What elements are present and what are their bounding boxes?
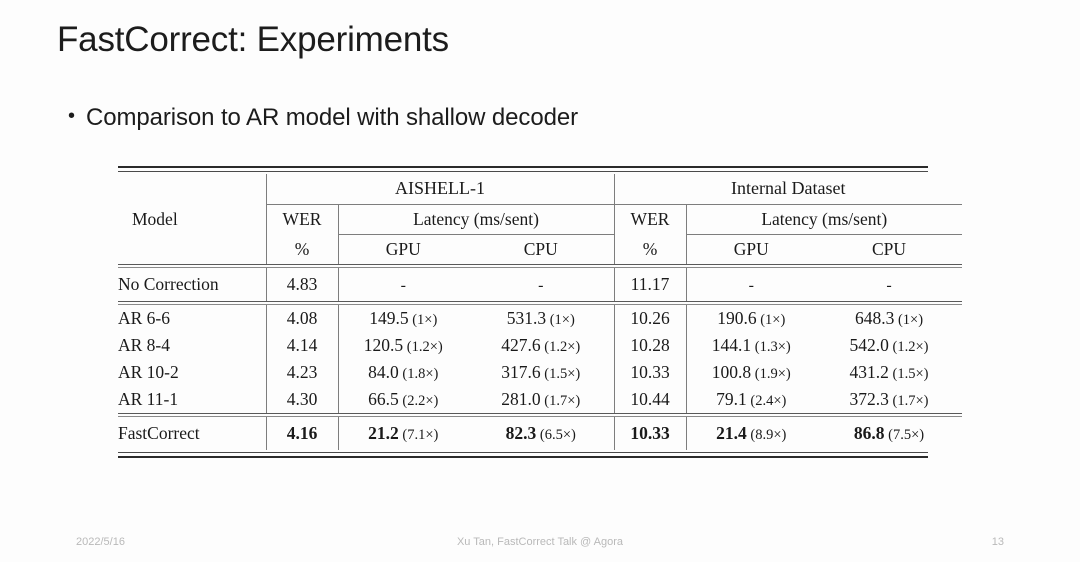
table-cell-aishell-cpu-speedup: (6.5×) [536, 427, 576, 443]
table-cell-internal-cpu: - [816, 268, 962, 301]
table-cell-internal-cpu: 542.0 (1.2×) [816, 332, 962, 359]
table-cell-aishell-wer-value: 4.08 [287, 308, 318, 328]
slide-footer: 2022/5/16 Xu Tan, FastCorrect Talk @ Ago… [0, 536, 1080, 556]
table-cell-aishell-gpu: 84.0 (1.8×) [338, 359, 468, 386]
table-cell-model: No Correction [118, 268, 266, 301]
table-cell-internal-cpu-speedup: (1.2×) [889, 339, 929, 355]
table-cell-internal-gpu-speedup: (2.4×) [747, 393, 787, 409]
table-cell-internal-cpu: 431.2 (1.5×) [816, 359, 962, 386]
column-header-internal-cpu: CPU [816, 235, 962, 265]
table-cell-model: AR 10-2 [118, 359, 266, 386]
table-cell-aishell-gpu: 21.2 (7.1×) [338, 417, 468, 450]
table-cell-internal-wer: 10.33 [614, 359, 686, 386]
table-cell-internal-cpu-value: - [886, 277, 891, 294]
table-cell-aishell-wer: 4.30 [266, 386, 338, 413]
table-cell-aishell-wer: 4.08 [266, 305, 338, 332]
table-cell-internal-gpu-speedup: (1×) [757, 312, 786, 328]
table-cell-model: AR 11-1 [118, 386, 266, 413]
table-cell-aishell-wer-value: 4.14 [287, 335, 318, 355]
table-cell-aishell-gpu-value: 21.2 [368, 423, 399, 443]
column-header-internal-gpu: GPU [686, 235, 816, 265]
page-title: FastCorrect: Experiments [57, 20, 449, 60]
footer-page-number: 13 [992, 536, 1004, 548]
table-cell-aishell-cpu: 82.3 (6.5×) [468, 417, 614, 450]
bullet-item-label: Comparison to AR model with shallow deco… [86, 104, 578, 132]
table-cell-internal-gpu-speedup: (1.3×) [751, 339, 791, 355]
table-cell-internal-cpu-value: 648.3 [855, 308, 894, 328]
table-cell-internal-gpu-value: 144.1 [712, 335, 751, 355]
table-cell-aishell-wer: 4.23 [266, 359, 338, 386]
table-cell-aishell-wer: 4.16 [266, 417, 338, 450]
table-cell-internal-gpu-value: 190.6 [717, 308, 756, 328]
table-cell-aishell-cpu-value: 531.3 [507, 308, 546, 328]
table-cell-internal-cpu-speedup: (1×) [894, 312, 923, 328]
table-cell-internal-wer: 10.44 [614, 386, 686, 413]
table-cell-aishell-wer-value: 4.30 [287, 389, 318, 409]
table-head: Model AISHELL-1 Internal Dataset WER Lat… [118, 174, 962, 264]
table-cell-aishell-gpu-value: 84.0 [368, 362, 399, 382]
table-cell-internal-cpu-value: 542.0 [850, 335, 889, 355]
table-cell-aishell-wer: 4.14 [266, 332, 338, 359]
table-cell-aishell-gpu-value: 149.5 [369, 308, 408, 328]
table-cell-aishell-cpu-speedup: (1.5×) [541, 366, 581, 382]
column-header-aishell-cpu: CPU [468, 235, 614, 265]
table-header-group-row: Model AISHELL-1 Internal Dataset [118, 174, 962, 205]
slide-canvas: FastCorrect: Experiments • Comparison to… [0, 0, 1080, 562]
table-cell-internal-gpu-speedup: (8.9×) [747, 427, 787, 443]
table-cell-aishell-cpu: 281.0 (1.7×) [468, 386, 614, 413]
bullet-marker-icon: • [68, 106, 75, 126]
table-cell-internal-cpu-speedup: (7.5×) [885, 427, 925, 443]
column-group-header-aishell: AISHELL-1 [266, 174, 614, 205]
table-cell-internal-cpu-value: 86.8 [854, 423, 885, 443]
table-cell-model: AR 6-6 [118, 305, 266, 332]
table-cell-aishell-cpu-speedup: (1.7×) [541, 393, 581, 409]
table-cell-internal-wer-value: 10.44 [630, 389, 669, 409]
table-cell-aishell-cpu-value: 82.3 [506, 423, 537, 443]
table-cell-internal-gpu: 144.1 (1.3×) [686, 332, 816, 359]
table-cell-model: FastCorrect [118, 417, 266, 450]
table-cell-internal-gpu-value: 79.1 [716, 389, 747, 409]
table-row: AR 10-24.2384.0 (1.8×)317.6 (1.5×)10.331… [118, 359, 962, 386]
table-cell-aishell-gpu: 66.5 (2.2×) [338, 386, 468, 413]
column-header-aishell-latency: Latency (ms/sent) [338, 205, 614, 235]
column-header-internal-latency: Latency (ms/sent) [686, 205, 962, 235]
table-cell-internal-cpu: 648.3 (1×) [816, 305, 962, 332]
table-bottom-rule [118, 452, 928, 458]
results-table-container: Model AISHELL-1 Internal Dataset WER Lat… [118, 166, 928, 458]
table-cell-aishell-cpu: 531.3 (1×) [468, 305, 614, 332]
table-cell-internal-cpu-speedup: (1.5×) [889, 366, 929, 382]
table-cell-aishell-gpu: 149.5 (1×) [338, 305, 468, 332]
column-header-aishell-wer: WER [266, 205, 338, 235]
table-cell-aishell-cpu-value: - [538, 277, 543, 294]
table-cell-aishell-gpu-value: 66.5 [368, 389, 399, 409]
table-cell-internal-gpu-value: 21.4 [716, 423, 747, 443]
table-cell-aishell-gpu-speedup: (1.8×) [399, 366, 439, 382]
table-cell-aishell-wer-value: 4.83 [287, 274, 318, 294]
column-header-model: Model [118, 174, 266, 264]
table-cell-internal-gpu: - [686, 268, 816, 301]
table-cell-internal-cpu-value: 372.3 [850, 389, 889, 409]
table-cell-aishell-gpu: 120.5 (1.2×) [338, 332, 468, 359]
table-row: No Correction4.83--11.17-- [118, 268, 962, 301]
table-cell-aishell-wer-value: 4.16 [287, 423, 318, 443]
table-row: AR 11-14.3066.5 (2.2×)281.0 (1.7×)10.447… [118, 386, 962, 413]
column-header-internal-wer: WER [614, 205, 686, 235]
table-cell-aishell-cpu: - [468, 268, 614, 301]
table-cell-aishell-cpu: 317.6 (1.5×) [468, 359, 614, 386]
table-cell-internal-gpu-value: 100.8 [712, 362, 751, 382]
results-table: Model AISHELL-1 Internal Dataset WER Lat… [118, 174, 962, 450]
table-cell-aishell-gpu-value: 120.5 [364, 335, 403, 355]
table-cell-internal-cpu: 372.3 (1.7×) [816, 386, 962, 413]
table-cell-internal-wer: 11.17 [614, 268, 686, 301]
table-cell-aishell-wer-value: 4.23 [287, 362, 318, 382]
table-cell-internal-cpu-speedup: (1.7×) [889, 393, 929, 409]
table-cell-internal-gpu: 79.1 (2.4×) [686, 386, 816, 413]
bullet-item: • Comparison to AR model with shallow de… [68, 104, 578, 132]
table-cell-aishell-gpu-speedup: (1.2×) [403, 339, 443, 355]
table-cell-internal-wer-value: 10.33 [630, 423, 669, 443]
table-cell-aishell-cpu-value: 427.6 [501, 335, 540, 355]
table-cell-aishell-gpu-speedup: (1×) [409, 312, 438, 328]
table-row: AR 6-64.08149.5 (1×)531.3 (1×)10.26190.6… [118, 305, 962, 332]
table-cell-internal-wer-value: 10.33 [630, 362, 669, 382]
table-cell-model: AR 8-4 [118, 332, 266, 359]
column-header-aishell-wer-unit: % [266, 235, 338, 265]
table-cell-internal-cpu-value: 431.2 [850, 362, 889, 382]
table-cell-aishell-cpu-value: 317.6 [501, 362, 540, 382]
table-cell-internal-gpu: 21.4 (8.9×) [686, 417, 816, 450]
column-group-header-internal: Internal Dataset [614, 174, 962, 205]
table-cell-aishell-cpu-value: 281.0 [501, 389, 540, 409]
table-cell-internal-gpu-value: - [749, 277, 754, 294]
table-cell-internal-cpu: 86.8 (7.5×) [816, 417, 962, 450]
table-cell-internal-wer-value: 10.26 [630, 308, 669, 328]
table-cell-internal-gpu: 190.6 (1×) [686, 305, 816, 332]
table-cell-internal-wer: 10.28 [614, 332, 686, 359]
table-cell-internal-wer-value: 10.28 [630, 335, 669, 355]
table-cell-aishell-gpu-speedup: (7.1×) [399, 427, 439, 443]
column-header-internal-wer-unit: % [614, 235, 686, 265]
table-cell-internal-wer-value: 11.17 [631, 274, 670, 294]
table-body: No Correction4.83--11.17--AR 6-64.08149.… [118, 264, 962, 450]
table-cell-aishell-cpu-speedup: (1×) [546, 312, 575, 328]
column-header-aishell-gpu: GPU [338, 235, 468, 265]
table-cell-aishell-wer: 4.83 [266, 268, 338, 301]
table-cell-aishell-cpu-speedup: (1.2×) [541, 339, 581, 355]
footer-attribution: Xu Tan, FastCorrect Talk @ Agora [0, 536, 1080, 548]
table-cell-internal-gpu: 100.8 (1.9×) [686, 359, 816, 386]
table-cell-aishell-gpu-value: - [401, 277, 406, 294]
table-cell-internal-wer: 10.26 [614, 305, 686, 332]
table-top-rule [118, 166, 928, 172]
table-cell-aishell-gpu-speedup: (2.2×) [399, 393, 439, 409]
table-cell-internal-wer: 10.33 [614, 417, 686, 450]
table-row: AR 8-44.14120.5 (1.2×)427.6 (1.2×)10.281… [118, 332, 962, 359]
table-cell-aishell-cpu: 427.6 (1.2×) [468, 332, 614, 359]
table-cell-internal-gpu-speedup: (1.9×) [751, 366, 791, 382]
table-row: FastCorrect4.1621.2 (7.1×)82.3 (6.5×)10.… [118, 417, 962, 450]
table-cell-aishell-gpu: - [338, 268, 468, 301]
